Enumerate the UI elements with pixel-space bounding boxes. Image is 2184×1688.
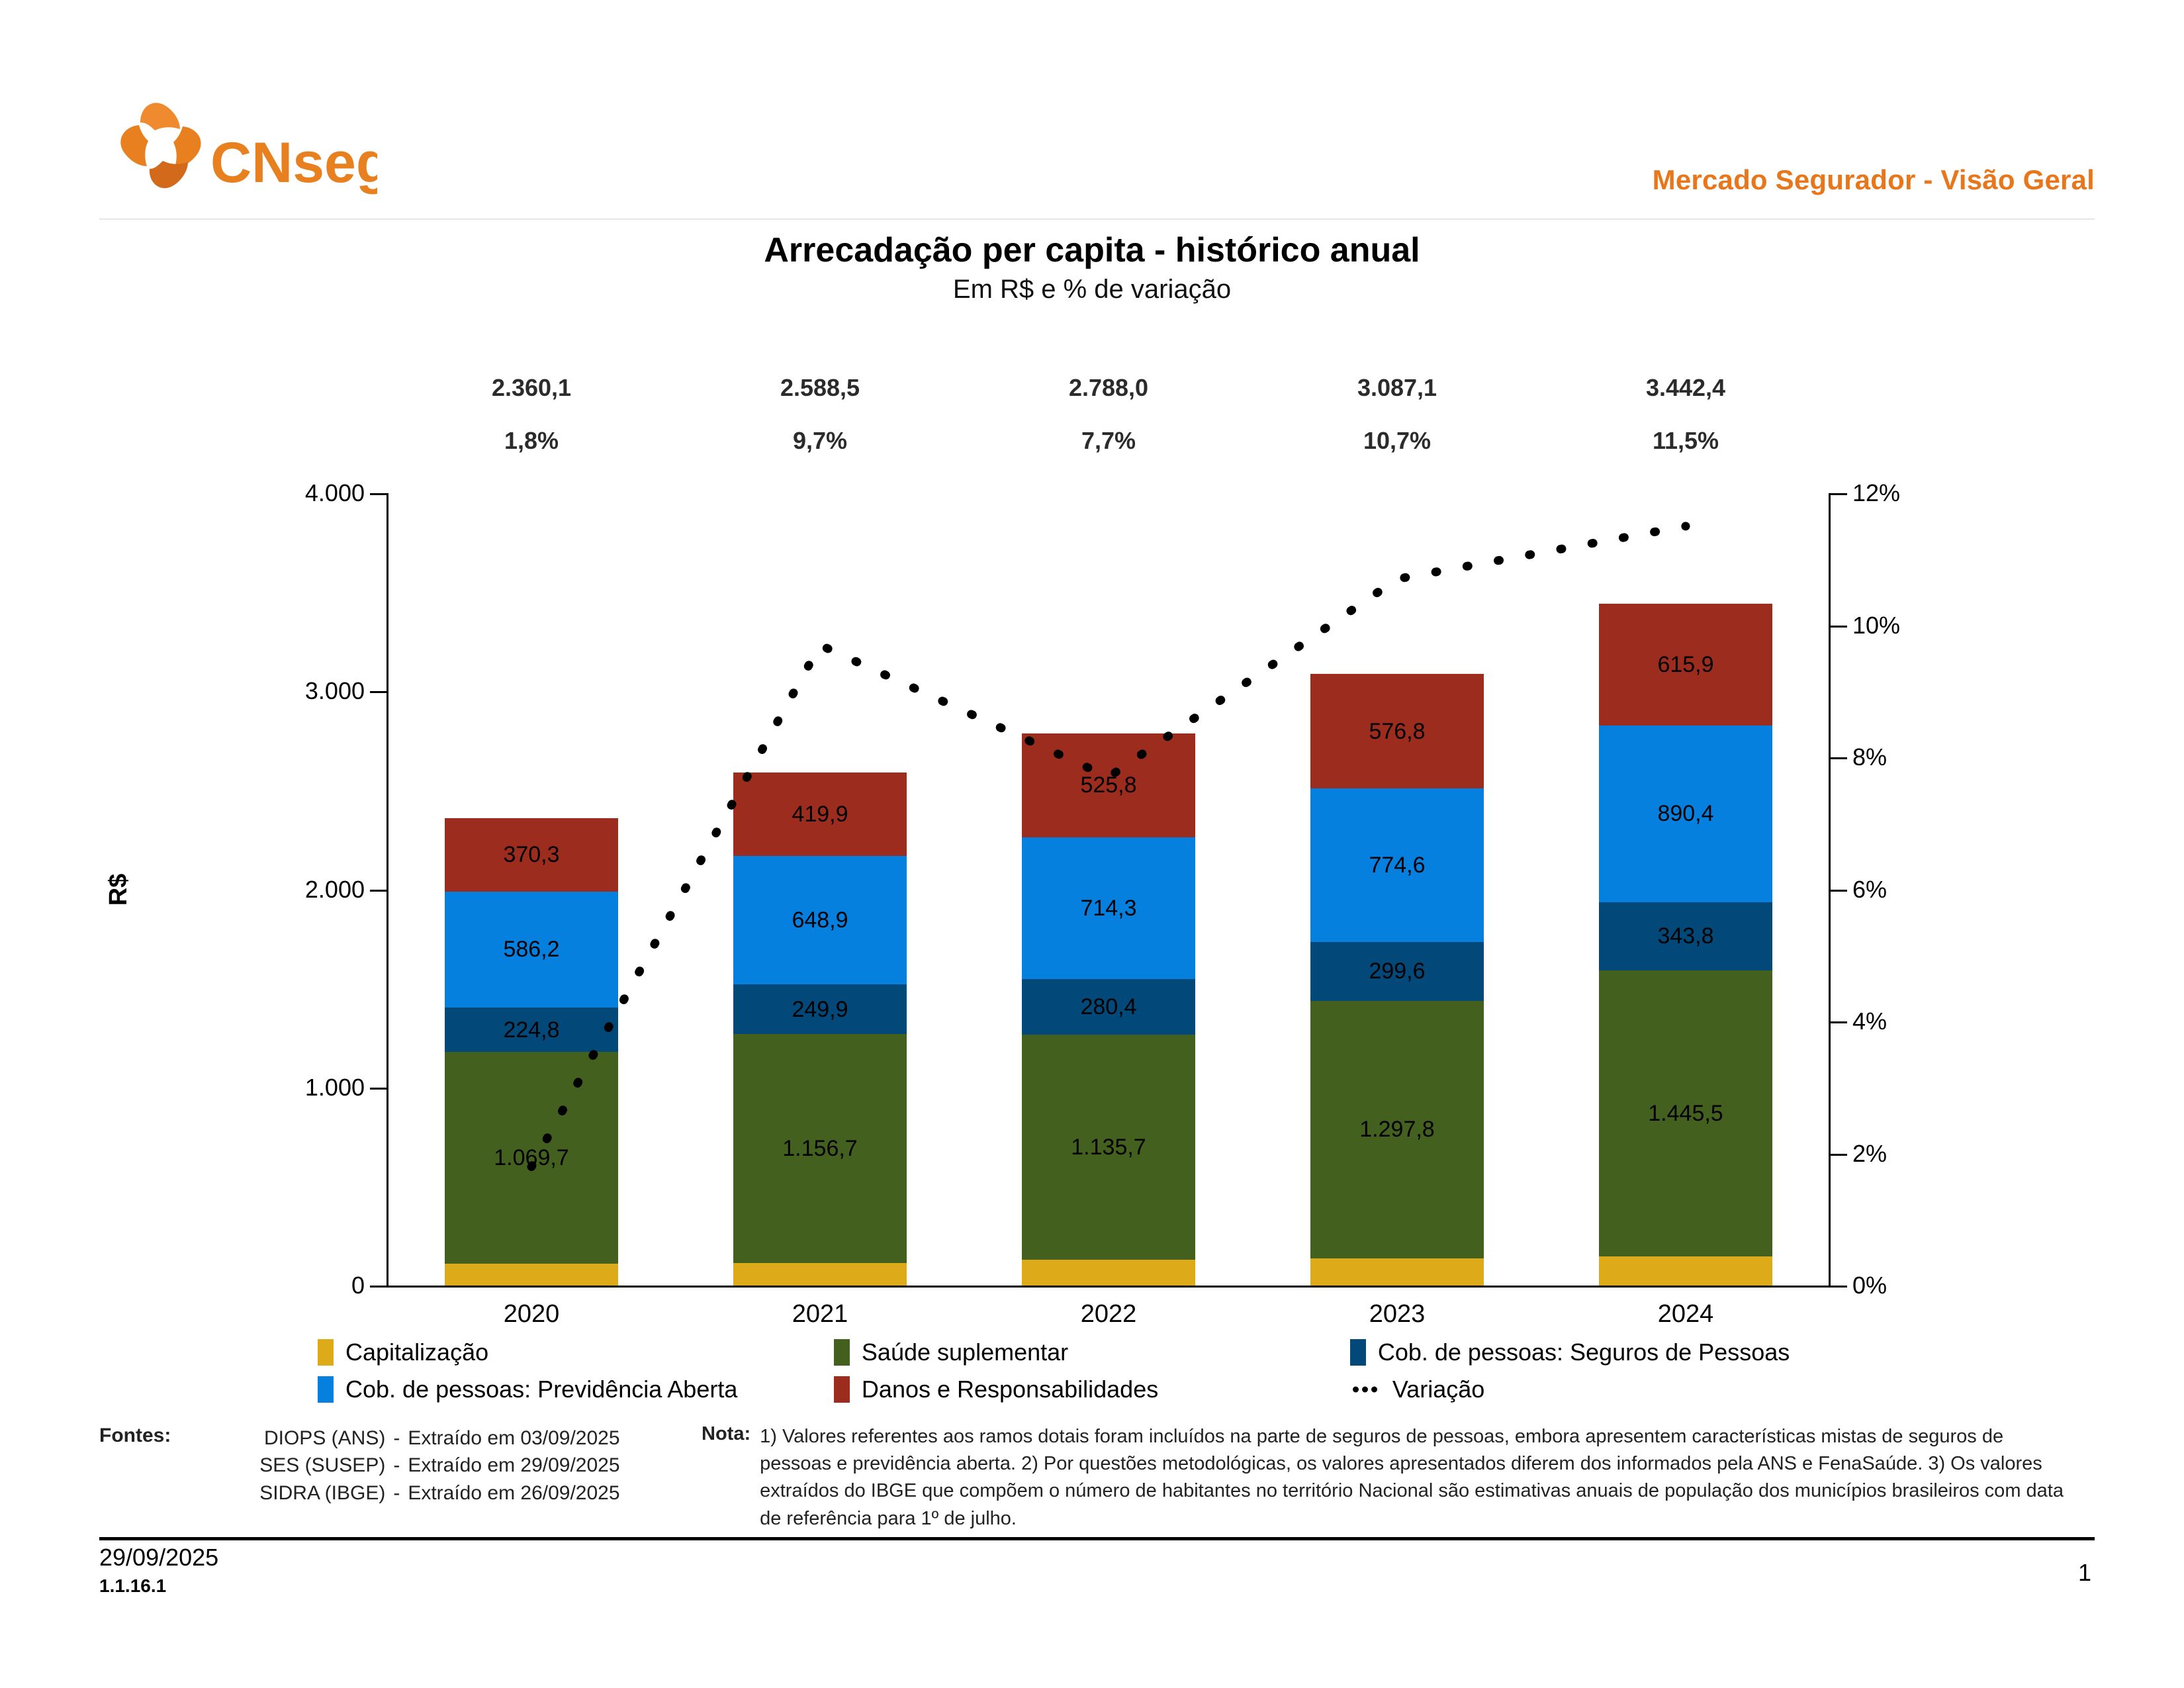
header-divider bbox=[99, 218, 2095, 220]
bar-segment-label: 1.135,7 bbox=[1071, 1136, 1146, 1158]
bar-segment-label: 249,9 bbox=[792, 998, 848, 1021]
svg-text:CNseg: CNseg bbox=[210, 131, 377, 195]
stacked-bar[interactable]: 138,21.297,8299,6774,6576,8 bbox=[1310, 674, 1484, 1286]
bar-segment[interactable]: 343,8 bbox=[1599, 902, 1772, 970]
legend-label: Danos e Responsabilidades bbox=[862, 1376, 1158, 1403]
source-row: DIOPS (ANS)-Extraído em 03/09/2025 bbox=[180, 1425, 619, 1452]
variation-value: 1,8% bbox=[387, 427, 676, 460]
source-detail: Extraído em 03/09/2025 bbox=[408, 1425, 619, 1452]
legend-color-swatch bbox=[1350, 1339, 1366, 1366]
y-tick-left: 4.000 bbox=[189, 479, 387, 507]
bar-segment-label: 615,9 bbox=[1657, 653, 1713, 676]
x-axis bbox=[386, 1286, 1831, 1288]
bar-segment[interactable]: 1.069,7 bbox=[445, 1052, 618, 1264]
bar-segment[interactable]: 138,2 bbox=[1310, 1258, 1484, 1286]
section-title: Mercado Segurador - Visão Geral bbox=[1653, 164, 2095, 196]
x-tick-label: 2020 bbox=[387, 1300, 676, 1329]
stacked-bar[interactable]: 109,11.069,7224,8586,2370,3 bbox=[445, 818, 618, 1286]
y-tick-left: 3.000 bbox=[189, 677, 387, 705]
y-tick-right: 0% bbox=[1830, 1272, 2028, 1299]
bar-group: 131,81.135,7280,4714,3525,82022 bbox=[964, 493, 1253, 1286]
bar-segment[interactable]: 615,9 bbox=[1599, 604, 1772, 726]
note-block: Nota: 1) Valores referentes aos ramos do… bbox=[702, 1423, 2078, 1532]
source-separator: - bbox=[385, 1479, 408, 1507]
variation-value: 7,7% bbox=[964, 427, 1253, 460]
variation-value: 10,7% bbox=[1253, 427, 1541, 460]
source-detail: Extraído em 26/09/2025 bbox=[408, 1479, 619, 1507]
bar-segment-label: 1.445,5 bbox=[1648, 1102, 1723, 1125]
slide-page: CNseg Mercado Segurador - Visão Geral Ar… bbox=[0, 0, 2184, 1688]
bar-segment[interactable]: 525,8 bbox=[1022, 733, 1195, 837]
bar-segment[interactable]: 1.297,8 bbox=[1310, 1001, 1484, 1258]
source-name: SES (SUSEP) bbox=[180, 1452, 385, 1479]
bar-segment[interactable]: 1.445,5 bbox=[1599, 970, 1772, 1257]
bar-segment[interactable]: 131,8 bbox=[1022, 1260, 1195, 1286]
stacked-bars: 109,11.069,7224,8586,2370,32020113,01.15… bbox=[387, 493, 1830, 1286]
bar-segment[interactable]: 774,6 bbox=[1310, 788, 1484, 942]
legend-label: Variação bbox=[1392, 1376, 1484, 1403]
total-value: 2.788,0 bbox=[964, 374, 1253, 407]
y-tick-right: 12% bbox=[1830, 479, 2028, 507]
legend-item[interactable]: Saúde suplementar bbox=[834, 1334, 1350, 1371]
bar-segment-label: 586,2 bbox=[503, 938, 559, 961]
source-name: SIDRA (IBGE) bbox=[180, 1479, 385, 1507]
bar-segment-label: 774,6 bbox=[1369, 854, 1425, 876]
sources-list: DIOPS (ANS)-Extraído em 03/09/2025SES (S… bbox=[180, 1425, 619, 1507]
bar-segment-label: 1.069,7 bbox=[494, 1147, 569, 1169]
variation-value: 11,5% bbox=[1541, 427, 1830, 460]
y-tick-left: 0 bbox=[189, 1272, 387, 1299]
bar-segment-label: 890,4 bbox=[1657, 802, 1713, 825]
bar-segment-label: 1.297,8 bbox=[1359, 1118, 1434, 1141]
bar-segment[interactable]: 586,2 bbox=[445, 892, 618, 1008]
y-tick-left: 2.000 bbox=[189, 876, 387, 904]
note-text: 1) Valores referentes aos ramos dotais f… bbox=[760, 1423, 2078, 1532]
bar-segment[interactable]: 419,9 bbox=[733, 773, 907, 856]
bar-segment-label: 525,8 bbox=[1080, 774, 1136, 796]
bar-segment[interactable]: 714,3 bbox=[1022, 837, 1195, 979]
totals-row: 2.360,1 2.588,5 2.788,0 3.087,1 3.442,4 bbox=[387, 374, 1830, 407]
x-tick-label: 2021 bbox=[676, 1300, 964, 1329]
source-separator: - bbox=[385, 1452, 408, 1479]
x-tick-label: 2023 bbox=[1253, 1300, 1541, 1329]
source-detail: Extraído em 29/09/2025 bbox=[408, 1452, 619, 1479]
bar-group: 138,21.297,8299,6774,6576,82023 bbox=[1253, 493, 1541, 1286]
bar-group: 113,01.156,7249,9648,9419,92021 bbox=[676, 493, 964, 1286]
bar-segment[interactable]: 224,8 bbox=[445, 1008, 618, 1052]
footer-date: 29/09/2025 bbox=[99, 1544, 218, 1571]
y-tick-right: 8% bbox=[1830, 743, 2028, 771]
stacked-bar[interactable]: 131,81.135,7280,4714,3525,8 bbox=[1022, 733, 1195, 1286]
bar-segment[interactable]: 146,8 bbox=[1599, 1256, 1772, 1286]
variation-row: 1,8% 9,7% 7,7% 10,7% 11,5% bbox=[387, 427, 1830, 460]
bar-segment-label: 370,3 bbox=[503, 843, 559, 866]
bar-segment[interactable]: 113,0 bbox=[733, 1263, 907, 1286]
y-tick-right: 4% bbox=[1830, 1008, 2028, 1035]
y-tick-right: 6% bbox=[1830, 876, 2028, 904]
variation-value: 9,7% bbox=[676, 427, 964, 460]
legend-color-swatch bbox=[834, 1376, 850, 1403]
bar-segment-label: 576,8 bbox=[1369, 720, 1425, 743]
dotted-line-icon bbox=[1350, 1376, 1381, 1403]
legend-color-swatch bbox=[834, 1339, 850, 1366]
legend-item[interactable]: Danos e Responsabilidades bbox=[834, 1371, 1350, 1408]
legend-label: Saúde suplementar bbox=[862, 1338, 1068, 1366]
legend-label: Capitalização bbox=[345, 1338, 488, 1366]
footer-version: 1.1.16.1 bbox=[99, 1575, 166, 1597]
y-tick-right: 10% bbox=[1830, 612, 2028, 639]
sources-block: Fontes: DIOPS (ANS)-Extraído em 03/09/20… bbox=[99, 1425, 620, 1507]
bar-segment-label: 343,8 bbox=[1657, 925, 1713, 947]
total-value: 3.442,4 bbox=[1541, 374, 1830, 407]
stacked-bar[interactable]: 113,01.156,7249,9648,9419,9 bbox=[733, 773, 907, 1286]
y-tick-left: 1.000 bbox=[189, 1074, 387, 1102]
note-label: Nota: bbox=[702, 1423, 751, 1532]
sources-label: Fontes: bbox=[99, 1425, 171, 1507]
bar-segment-label: 714,3 bbox=[1080, 897, 1136, 919]
footer-divider bbox=[99, 1537, 2095, 1540]
total-value: 2.360,1 bbox=[387, 374, 676, 407]
chart-subtitle: Em R$ e % de variação bbox=[0, 275, 2184, 305]
cnseg-logo: CNseg bbox=[99, 89, 377, 209]
bar-segment[interactable]: 370,3 bbox=[445, 818, 618, 892]
source-row: SIDRA (IBGE)-Extraído em 26/09/2025 bbox=[180, 1479, 619, 1507]
legend-label: Cob. de pessoas: Seguros de Pessoas bbox=[1378, 1338, 1790, 1366]
y-tick-right: 2% bbox=[1830, 1140, 2028, 1168]
chart-plot-area: R$ 01.0002.0003.0004.000 0%2%4%6%8%10%12… bbox=[387, 493, 1830, 1286]
source-name: DIOPS (ANS) bbox=[180, 1425, 385, 1452]
bar-segment-label: 419,9 bbox=[792, 803, 848, 825]
chart-title: Arrecadação per capita - histórico anual bbox=[0, 230, 2184, 270]
stacked-bar[interactable]: 146,81.445,5343,8890,4615,9 bbox=[1599, 604, 1772, 1286]
source-row: SES (SUSEP)-Extraído em 29/09/2025 bbox=[180, 1452, 619, 1479]
bar-group: 146,81.445,5343,8890,4615,92024 bbox=[1541, 493, 1830, 1286]
chart-legend: CapitalizaçãoSaúde suplementarCob. de pe… bbox=[318, 1334, 1866, 1408]
legend-label: Cob. de pessoas: Previdência Aberta bbox=[345, 1376, 737, 1403]
total-value: 2.588,5 bbox=[676, 374, 964, 407]
bar-segment[interactable]: 249,9 bbox=[733, 984, 907, 1034]
legend-color-swatch bbox=[318, 1339, 334, 1366]
legend-color-swatch bbox=[318, 1376, 334, 1403]
bar-segment[interactable]: 1.135,7 bbox=[1022, 1035, 1195, 1260]
x-tick-label: 2022 bbox=[964, 1300, 1253, 1329]
legend-item[interactable]: Cob. de pessoas: Previdência Aberta bbox=[318, 1371, 834, 1408]
bar-segment-label: 648,9 bbox=[792, 909, 848, 931]
bar-segment[interactable]: 576,8 bbox=[1310, 674, 1484, 788]
x-tick-label: 2024 bbox=[1541, 1300, 1830, 1329]
legend-item[interactable]: Cob. de pessoas: Seguros de Pessoas bbox=[1350, 1334, 1866, 1371]
legend-item[interactable]: Capitalização bbox=[318, 1334, 834, 1371]
y-axis-title: R$ bbox=[105, 873, 133, 906]
source-separator: - bbox=[385, 1425, 408, 1452]
bar-segment[interactable]: 299,6 bbox=[1310, 942, 1484, 1002]
page-number: 1 bbox=[2078, 1559, 2091, 1587]
bar-segment[interactable]: 648,9 bbox=[733, 856, 907, 984]
bar-segment-label: 224,8 bbox=[503, 1019, 559, 1041]
bar-segment[interactable]: 1.156,7 bbox=[733, 1034, 907, 1263]
bar-segment[interactable]: 280,4 bbox=[1022, 979, 1195, 1035]
legend-item[interactable]: Variação bbox=[1350, 1371, 1866, 1408]
total-value: 3.087,1 bbox=[1253, 374, 1541, 407]
bar-segment[interactable]: 890,4 bbox=[1599, 726, 1772, 902]
bar-segment-label: 1.156,7 bbox=[782, 1137, 857, 1160]
bar-segment-label: 280,4 bbox=[1080, 996, 1136, 1018]
bar-group: 109,11.069,7224,8586,2370,32020 bbox=[387, 493, 676, 1286]
bar-segment-label: 299,6 bbox=[1369, 960, 1425, 982]
bar-segment[interactable]: 109,1 bbox=[445, 1264, 618, 1286]
